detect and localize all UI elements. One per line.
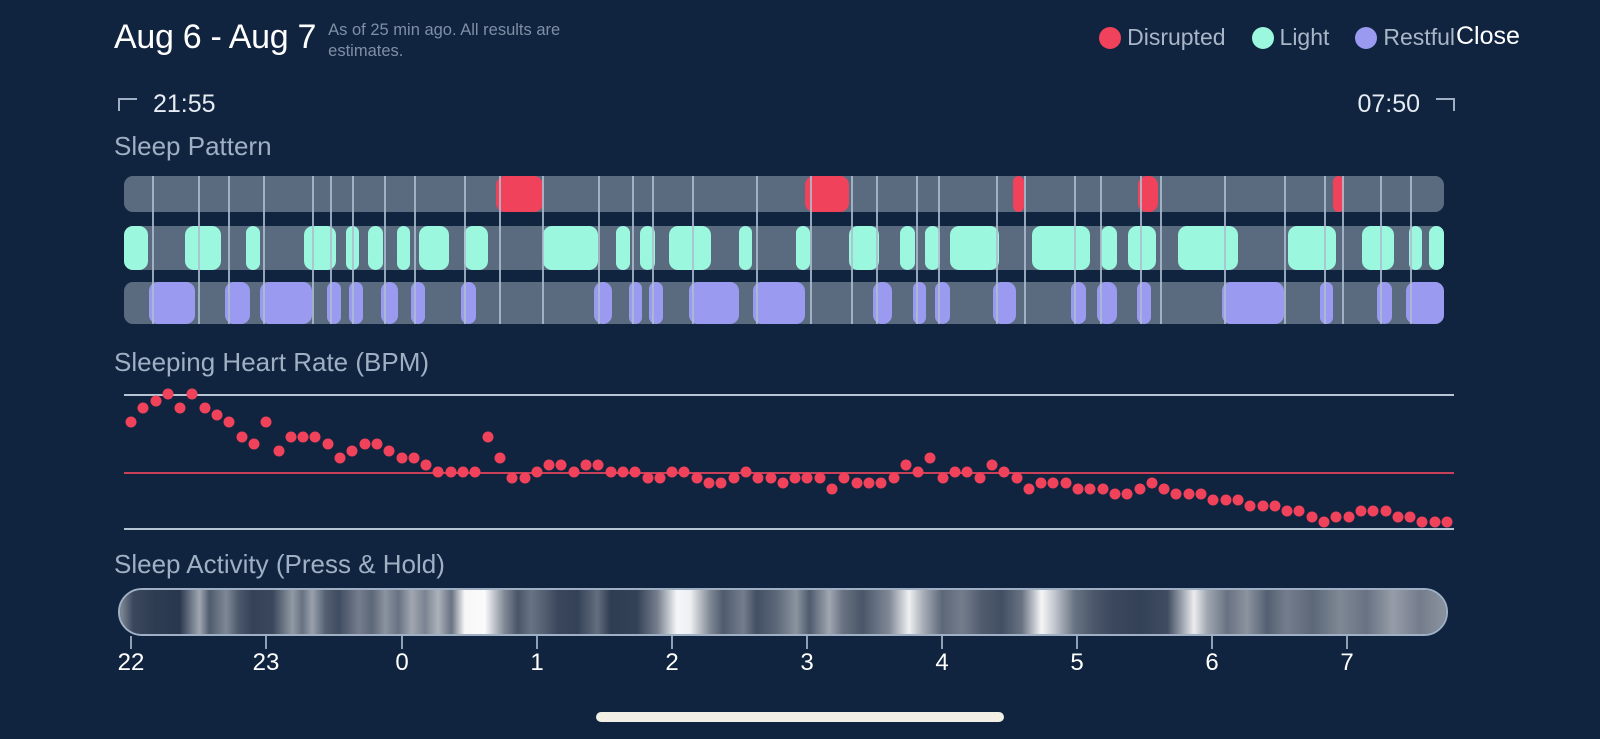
heart-rate-point	[298, 431, 309, 442]
axis-tick	[130, 636, 132, 649]
axis-tick	[1211, 636, 1213, 649]
heart-rate-point	[654, 472, 665, 483]
heart-rate-point	[482, 431, 493, 442]
heart-rate-point	[1343, 511, 1354, 522]
heart-rate-point	[224, 417, 235, 428]
heart-rate-point	[1036, 478, 1047, 489]
segment-connector	[1074, 176, 1076, 324]
heart-rate-point	[937, 472, 948, 483]
axis-label: 6	[1205, 649, 1218, 677]
heart-rate-point	[728, 472, 739, 483]
segment-connector	[198, 176, 200, 324]
heart-rate-point	[1146, 478, 1157, 489]
segment-connector	[152, 176, 154, 324]
segment-connector	[1224, 176, 1226, 324]
heart-rate-point	[445, 467, 456, 478]
heart-rate-point	[1159, 483, 1170, 494]
segment-connector	[542, 176, 544, 324]
sleep-segment-light	[739, 226, 752, 270]
segment-connector	[876, 176, 878, 324]
axis-label: 0	[395, 649, 408, 677]
heart-rate-point	[494, 452, 505, 463]
axis-label: 4	[935, 649, 948, 677]
axis-tick	[1076, 636, 1078, 649]
heart-rate-point	[617, 467, 628, 478]
sleep-segment-light	[900, 226, 915, 270]
segment-connector	[464, 176, 466, 324]
axis-label: 2	[665, 649, 678, 677]
heart-rate-point	[1073, 483, 1084, 494]
heart-rate-point	[986, 459, 997, 470]
end-time-label: 07:50	[1357, 90, 1420, 119]
axis-label: 3	[800, 649, 813, 677]
segment-connector	[810, 176, 812, 324]
heart-rate-point	[507, 472, 518, 483]
heart-rate-point	[876, 478, 887, 489]
time-range-row: 21:55 07:50	[0, 90, 1600, 126]
heart-rate-point	[814, 472, 825, 483]
heart-rate-point	[568, 467, 579, 478]
heart-rate-point	[1368, 506, 1379, 517]
sleep-segment-light	[1288, 226, 1336, 270]
segment-connector	[1284, 176, 1286, 324]
heart-rate-point	[322, 438, 333, 449]
track-light[interactable]	[124, 226, 1444, 270]
heart-rate-chart[interactable]: 80 69 59	[114, 380, 1454, 532]
heart-rate-point	[1196, 489, 1207, 500]
average-line-69	[124, 472, 1454, 474]
heart-rate-plot	[124, 380, 1454, 532]
heart-rate-point	[679, 467, 690, 478]
heart-rate-point	[1245, 500, 1256, 511]
sleep-segment-restful	[1406, 282, 1444, 324]
heart-rate-point	[913, 467, 924, 478]
heart-rate-point	[962, 467, 973, 478]
sleep-segment-light	[849, 226, 879, 270]
sleep-segment-light	[397, 226, 410, 270]
heart-rate-point	[1442, 517, 1453, 528]
heart-rate-point	[162, 389, 173, 400]
heart-rate-point	[1429, 517, 1440, 528]
heart-rate-point	[888, 472, 899, 483]
segment-connector	[384, 176, 386, 324]
heart-rate-point	[581, 459, 592, 470]
sleep-pattern-title: Sleep Pattern	[114, 131, 272, 162]
segment-connector	[1410, 176, 1412, 324]
header: Aug 6 - Aug 7 As of 25 min ago. All resu…	[0, 0, 1600, 78]
segment-connector	[1100, 176, 1102, 324]
heart-rate-point	[384, 445, 395, 456]
heart-rate-point	[950, 467, 961, 478]
sleep-segment-disrupted	[496, 176, 543, 212]
start-time-label: 21:55	[153, 90, 216, 119]
axis-label: 1	[530, 649, 543, 677]
heart-rate-point	[187, 389, 198, 400]
activity-gradient	[120, 590, 1446, 634]
heart-rate-point	[1011, 472, 1022, 483]
heart-rate-point	[1257, 500, 1268, 511]
heart-rate-point	[544, 459, 555, 470]
sleep-segment-restful	[753, 282, 805, 324]
heart-rate-point	[359, 438, 370, 449]
sleep-start-time: 21:55	[118, 90, 216, 119]
heart-rate-point	[740, 467, 751, 478]
heart-rate-point	[1319, 517, 1330, 528]
heart-rate-point	[1134, 483, 1145, 494]
heart-rate-point	[863, 478, 874, 489]
sleep-segment-light	[1429, 226, 1444, 270]
axis-tick	[536, 636, 538, 649]
circle-icon	[1099, 27, 1121, 49]
sleep-segment-light	[124, 226, 148, 270]
heart-rate-point	[1097, 483, 1108, 494]
heart-rate-point	[642, 472, 653, 483]
heart-rate-point	[138, 403, 149, 414]
heart-rate-point	[470, 467, 481, 478]
legend-item-disrupted[interactable]: Disrupted	[1099, 24, 1225, 51]
heart-rate-point	[175, 403, 186, 414]
heart-rate-point	[1294, 506, 1305, 517]
legend-item-restful[interactable]: Restful	[1355, 24, 1455, 51]
heart-rate-point	[433, 467, 444, 478]
heart-rate-point	[1122, 489, 1133, 500]
heart-rate-point	[790, 472, 801, 483]
legend-label: Light	[1280, 24, 1330, 51]
heart-rate-point	[1306, 511, 1317, 522]
heart-rate-point	[1060, 478, 1071, 489]
sleep-segment-light	[669, 226, 711, 270]
heart-rate-point	[777, 478, 788, 489]
sleep-segment-light	[1032, 226, 1090, 270]
heart-rate-point	[1380, 506, 1391, 517]
sleep-segment-light	[419, 226, 449, 270]
sleep-segment-light	[1362, 226, 1394, 270]
heart-rate-point	[519, 472, 530, 483]
sleep-segment-light	[543, 226, 598, 270]
header-subtitle: As of 25 min ago. All results are estima…	[328, 20, 598, 62]
axis-tick	[401, 636, 403, 649]
sleep-segment-light	[246, 226, 260, 270]
segment-connector	[632, 176, 634, 324]
heart-rate-point	[1023, 483, 1034, 494]
segment-connector	[692, 176, 694, 324]
heart-rate-point	[1331, 511, 1342, 522]
circle-icon	[1252, 27, 1274, 49]
legend-label: Restful	[1383, 24, 1455, 51]
heart-rate-point	[765, 472, 776, 483]
heart-rate-point	[827, 483, 838, 494]
segment-connector	[1024, 176, 1026, 324]
heart-rate-point	[974, 472, 985, 483]
heart-rate-point	[605, 467, 616, 478]
activity-strip[interactable]	[118, 588, 1448, 636]
segment-connector	[851, 176, 853, 324]
segment-connector	[598, 176, 600, 324]
corner-bracket-right-icon	[1436, 98, 1455, 111]
segment-connector	[652, 176, 654, 324]
sleep-segment-light	[950, 226, 999, 270]
gridline-59	[124, 528, 1454, 530]
title-group: Aug 6 - Aug 7 As of 25 min ago. All resu…	[114, 14, 598, 62]
sleep-segment-light	[368, 226, 383, 270]
heart-rate-point	[1232, 495, 1243, 506]
heart-rate-point	[408, 452, 419, 463]
sleep-segment-light	[1101, 226, 1117, 270]
gridline-80	[124, 394, 1454, 396]
segment-connector	[352, 176, 354, 324]
axis-label: 5	[1070, 649, 1083, 677]
sleep-segment-restful	[1320, 282, 1333, 324]
axis-label: 22	[118, 649, 145, 677]
heart-rate-point	[371, 438, 382, 449]
sleep-end-time: 07:50	[1357, 90, 1455, 119]
heart-rate-point	[900, 459, 911, 470]
heart-rate-point	[593, 459, 604, 470]
axis-tick	[1346, 636, 1348, 649]
sleep-pattern-chart[interactable]	[124, 176, 1444, 324]
segment-connector	[312, 176, 314, 324]
sleep-segment-restful	[689, 282, 739, 324]
axis-label: 7	[1340, 649, 1353, 677]
heart-rate-point	[1171, 489, 1182, 500]
segment-connector	[756, 176, 758, 324]
track-restful[interactable]	[124, 282, 1444, 324]
corner-bracket-left-icon	[118, 98, 137, 111]
segment-connector	[938, 176, 940, 324]
heart-rate-point	[691, 472, 702, 483]
sleep-segment-disrupted	[1013, 176, 1024, 212]
heart-rate-point	[851, 478, 862, 489]
heart-rate-point	[285, 431, 296, 442]
heart-rate-point	[248, 438, 259, 449]
sleep-segment-light	[616, 226, 630, 270]
legend-label: Disrupted	[1127, 24, 1225, 51]
heart-rate-point	[925, 452, 936, 463]
heart-rate-point	[1085, 483, 1096, 494]
close-button[interactable]: Close	[1456, 22, 1520, 51]
heart-rate-point	[1392, 511, 1403, 522]
heart-rate-point	[458, 467, 469, 478]
segment-connector	[330, 176, 332, 324]
segment-connector	[1160, 176, 1162, 324]
segment-connector	[1140, 176, 1142, 324]
heart-rate-point	[839, 472, 850, 483]
axis-tick	[671, 636, 673, 649]
heart-rate-point	[1220, 495, 1231, 506]
heart-rate-point	[716, 478, 727, 489]
segment-connector	[1380, 176, 1382, 324]
segment-connector	[228, 176, 230, 324]
sleep-activity-chart[interactable]	[118, 588, 1448, 636]
segment-connector	[1342, 176, 1344, 324]
sleep-segment-restful	[629, 282, 642, 324]
axis-tick	[265, 636, 267, 649]
heart-rate-point	[667, 467, 678, 478]
heart-rate-title: Sleeping Heart Rate (BPM)	[114, 347, 429, 378]
axis-tick	[806, 636, 808, 649]
heart-rate-point	[1269, 500, 1280, 511]
sleep-segment-restful	[260, 282, 312, 324]
heart-rate-point	[310, 431, 321, 442]
heart-rate-point	[1048, 478, 1059, 489]
heart-rate-point	[1355, 506, 1366, 517]
heart-rate-point	[347, 445, 358, 456]
heart-rate-point	[236, 431, 247, 442]
sleep-segment-restful	[1222, 282, 1284, 324]
heart-rate-point	[335, 452, 346, 463]
segment-connector	[1324, 176, 1326, 324]
axis-label: 23	[253, 649, 280, 677]
track-disrupted[interactable]	[124, 176, 1444, 212]
heart-rate-point	[1183, 489, 1194, 500]
time-axis: 222301234567	[118, 636, 1448, 684]
legend: Disrupted Light Restful	[1099, 24, 1455, 51]
heart-rate-point	[753, 472, 764, 483]
sleep-segment-restful	[594, 282, 612, 324]
segment-connector	[263, 176, 265, 324]
sleep-segment-light	[1178, 226, 1238, 270]
home-indicator[interactable]	[596, 712, 1004, 722]
sleep-segment-light	[464, 226, 488, 270]
heart-rate-point	[531, 467, 542, 478]
heart-rate-point	[556, 459, 567, 470]
page-title: Aug 6 - Aug 7	[114, 14, 316, 60]
heart-rate-point	[396, 452, 407, 463]
segment-connector	[414, 176, 416, 324]
sleep-detail-screen: Aug 6 - Aug 7 As of 25 min ago. All resu…	[0, 0, 1600, 739]
heart-rate-point	[630, 467, 641, 478]
sleep-segment-restful	[913, 282, 926, 324]
heart-rate-point	[150, 396, 161, 407]
sleep-segment-restful	[149, 282, 195, 324]
axis-tick	[941, 636, 943, 649]
heart-rate-point	[999, 467, 1010, 478]
legend-item-light[interactable]: Light	[1252, 24, 1330, 51]
segment-connector	[916, 176, 918, 324]
heart-rate-point	[1417, 517, 1428, 528]
sleep-segment-light	[1128, 226, 1156, 270]
sleep-segment-disrupted	[805, 176, 849, 212]
heart-rate-point	[1405, 511, 1416, 522]
heart-rate-point	[212, 410, 223, 421]
circle-icon	[1355, 27, 1377, 49]
heart-rate-point	[126, 417, 137, 428]
heart-rate-point	[1109, 489, 1120, 500]
sleep-segment-light	[185, 226, 221, 270]
segment-connector	[499, 176, 501, 324]
heart-rate-point	[704, 478, 715, 489]
heart-rate-point	[273, 445, 284, 456]
heart-rate-point	[261, 417, 272, 428]
heart-rate-point	[802, 472, 813, 483]
heart-rate-point	[1282, 506, 1293, 517]
segment-connector	[996, 176, 998, 324]
heart-rate-point	[199, 403, 210, 414]
sleep-segment-light	[796, 226, 810, 270]
heart-rate-point	[1208, 495, 1219, 506]
sleep-activity-title: Sleep Activity (Press & Hold)	[114, 549, 445, 580]
heart-rate-point	[421, 459, 432, 470]
